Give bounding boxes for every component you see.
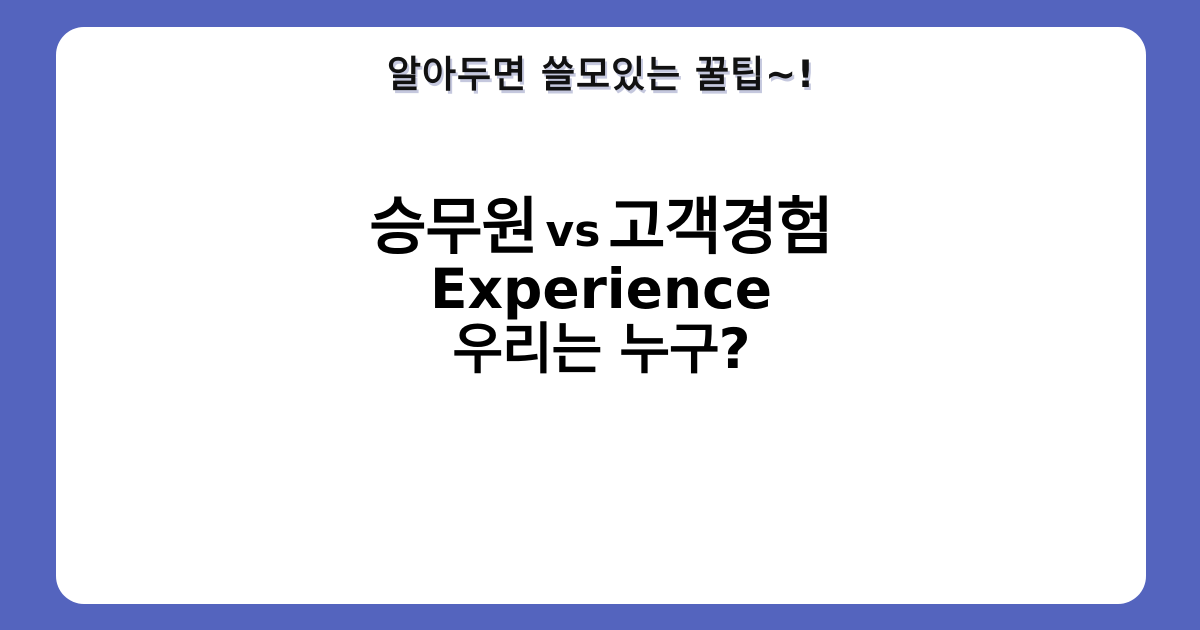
card-empty-body xyxy=(56,467,1146,604)
poster-canvas: 알아두면 쓸모있는 꿀팁~! 승무원vs고객경험 Experience 우리는 … xyxy=(0,0,1200,630)
subtitle-text: 알아두면 쓸모있는 꿀팁~! xyxy=(56,44,1146,98)
title-subject-crew: 승무원 xyxy=(369,190,537,263)
title-block: 승무원vs고객경험 Experience 우리는 누구? xyxy=(56,195,1146,378)
title-line-2: Experience xyxy=(56,261,1146,318)
title-vs-separator: vs xyxy=(538,206,609,257)
title-line-3: 우리는 누구? xyxy=(56,321,1146,378)
title-line-1: 승무원vs고객경험 xyxy=(56,195,1146,259)
title-subject-cx: 고객경험 xyxy=(608,190,832,263)
content-card: 알아두면 쓸모있는 꿀팁~! 승무원vs고객경험 Experience 우리는 … xyxy=(56,27,1146,604)
